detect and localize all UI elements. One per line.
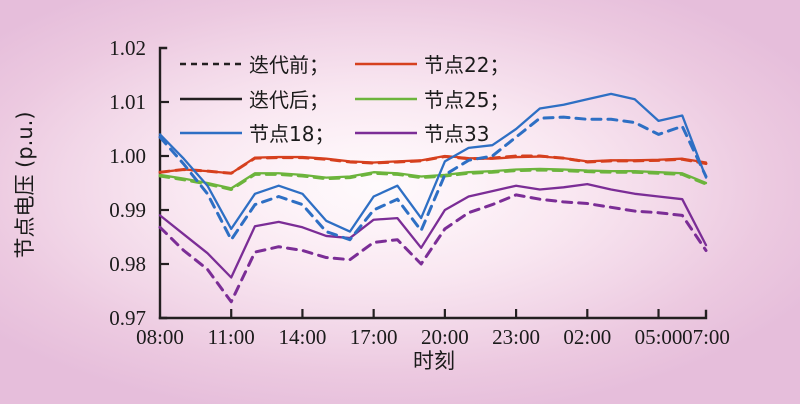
- y-tick-label: 1.00: [109, 144, 146, 168]
- x-axis-ticks: [231, 309, 658, 318]
- y-axis-ticks: [160, 102, 169, 264]
- series-line-node33-after: [160, 184, 706, 277]
- x-axis-tick-labels: 08:0011:0014:0017:0020:0023:0002:0005:00…: [136, 325, 730, 349]
- legend-label-3: 节点18；: [249, 122, 334, 146]
- x-axis-line: [160, 311, 706, 318]
- voltage-line-chart: 1.021.011.000.990.980.97 08:0011:0014:00…: [0, 0, 800, 404]
- series-line-node18-after: [160, 94, 706, 232]
- x-tick-label: 11:00: [208, 325, 255, 349]
- x-tick-label: 14:00: [279, 325, 327, 349]
- x-axis-title: 时刻: [413, 349, 455, 373]
- legend-label-5: 节点25；: [424, 88, 509, 112]
- y-axis-line: [160, 48, 166, 318]
- legend-label-4: 节点22；: [424, 53, 509, 77]
- x-tick-label: 23:00: [492, 325, 540, 349]
- legend-label-2: 迭代后；: [249, 88, 329, 112]
- x-tick-label: 20:00: [421, 325, 469, 349]
- chart-figure: 1.021.011.000.990.980.97 08:0011:0014:00…: [0, 0, 800, 404]
- series-line-node25-before: [160, 170, 706, 189]
- y-axis-tick-labels: 1.021.011.000.990.980.97: [109, 36, 146, 330]
- x-tick-label: 05:00: [635, 325, 683, 349]
- chart-legend: 迭代前；迭代后；节点18；节点22；节点25；节点33: [180, 53, 509, 146]
- x-tick-label: 07:00: [682, 325, 730, 349]
- series-line-node25-after: [160, 169, 706, 188]
- x-tick-label: 02:00: [563, 325, 611, 349]
- legend-label-1: 迭代前；: [249, 53, 329, 77]
- x-tick-label: 17:00: [350, 325, 398, 349]
- y-tick-label: 1.01: [109, 90, 146, 114]
- y-tick-label: 1.02: [109, 36, 146, 60]
- series-line-node33-before: [160, 195, 706, 302]
- legend-label-6: 节点33: [424, 122, 489, 146]
- y-tick-label: 0.99: [109, 198, 146, 222]
- x-tick-label: 08:00: [136, 325, 184, 349]
- y-tick-label: 0.98: [109, 252, 146, 276]
- y-axis-title: 节点电压 (p.u.): [13, 111, 37, 258]
